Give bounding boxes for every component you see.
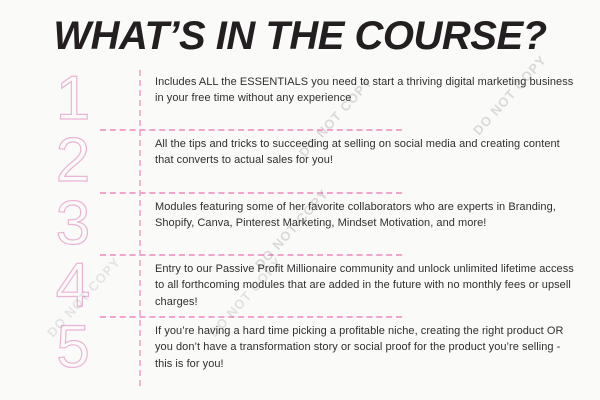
item-number: 1 — [0, 68, 140, 127]
item-number: 5 — [0, 317, 140, 374]
list-item: 4 Entry to our Passive Profit Millionair… — [0, 255, 600, 317]
item-description: Modules featuring some of her favorite c… — [140, 193, 600, 238]
course-contents-poster: WHAT’S IN THE COURSE? 1 Includes ALL the… — [0, 0, 600, 400]
item-number: 4 — [0, 255, 140, 314]
item-description: All the tips and tricks to succeeding at… — [140, 130, 600, 175]
item-description: If you’re having a hard time picking a p… — [140, 317, 600, 378]
page-title: WHAT’S IN THE COURSE? — [0, 14, 600, 59]
item-number: 3 — [0, 193, 140, 252]
item-description: Entry to our Passive Profit Millionaire … — [140, 255, 600, 316]
item-number: 2 — [0, 130, 140, 189]
item-description: Includes ALL the ESSENTIALS you need to … — [140, 68, 600, 113]
list-item: 5 If you’re having a hard time picking a… — [0, 317, 600, 397]
list-item: 2 All the tips and tricks to succeeding … — [0, 130, 600, 193]
list-item: 1 Includes ALL the ESSENTIALS you need t… — [0, 68, 600, 130]
list-item: 3 Modules featuring some of her favorite… — [0, 193, 600, 255]
course-items-list: 1 Includes ALL the ESSENTIALS you need t… — [0, 68, 600, 400]
